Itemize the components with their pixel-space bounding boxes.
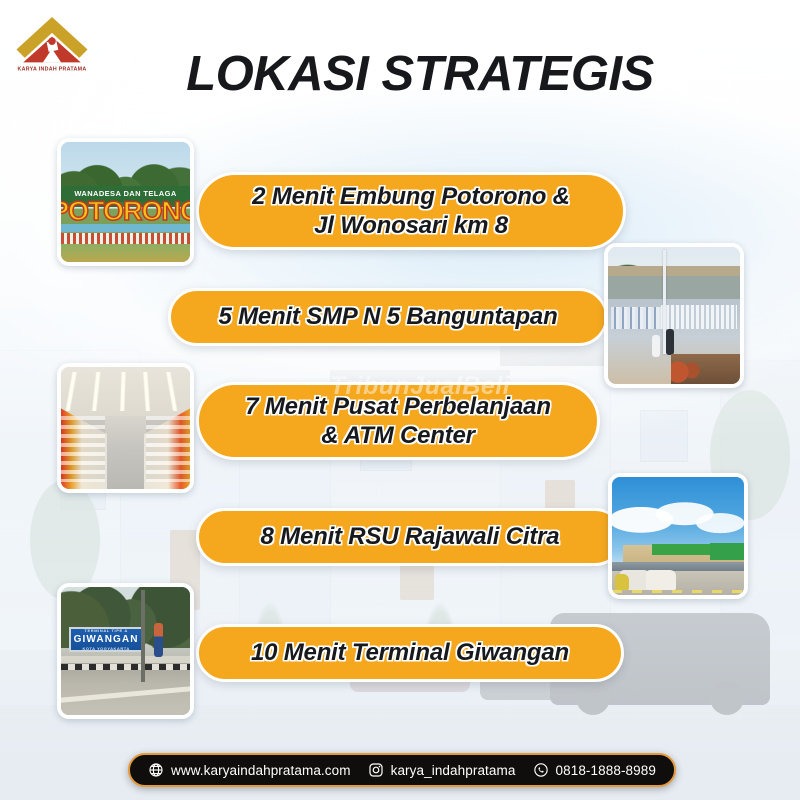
- photo-school-ceremony: [604, 243, 744, 388]
- instagram-icon: [368, 762, 384, 778]
- globe-icon: [148, 762, 164, 778]
- photo-potorono-landmark: WANADESA DAN TELAGA POTORONO: [57, 138, 194, 266]
- location-pill-embung-potorono[interactable]: 2 Menit Embung Potorono & Jl Wonosari km…: [196, 172, 626, 250]
- footer-whatsapp[interactable]: 0818-1888-8989: [533, 762, 657, 778]
- location-pill-smp-n-5-banguntapan[interactable]: 5 Menit SMP N 5 Banguntapan: [168, 288, 608, 346]
- photo-hospital-building: [608, 473, 748, 599]
- footer-website[interactable]: www.karyaindahpratama.com: [148, 762, 351, 778]
- poster-root: KARYA INDAH PRATAMA LOKASI STRATEGIS WAN…: [0, 0, 800, 800]
- location-label-terminal-giwangan: 10 Menit Terminal Giwangan: [235, 638, 585, 667]
- photo-terminal-giwangan: TERMINAL TIPE A GIWANGAN KOTA YOGYAKARTA: [57, 583, 194, 719]
- photo-supermarket-aisle: [57, 363, 194, 493]
- potorono-sign-word: POTORONO: [61, 198, 190, 224]
- giwangan-sign-line2: GIWANGAN: [74, 634, 139, 645]
- footer-instagram-text: karya_indahpratama: [391, 763, 516, 778]
- giwangan-sign: TERMINAL TIPE A GIWANGAN KOTA YOGYAKARTA: [69, 627, 144, 653]
- footer-instagram[interactable]: karya_indahpratama: [368, 762, 516, 778]
- location-pill-rsu-rajawali-citra[interactable]: 8 Menit RSU Rajawali Citra: [196, 508, 624, 566]
- whatsapp-icon: [533, 762, 549, 778]
- giwangan-sign-line3: KOTA YOGYAKARTA: [83, 646, 130, 651]
- location-pill-terminal-giwangan[interactable]: 10 Menit Terminal Giwangan: [196, 624, 624, 682]
- location-pill-pusat-perbelanjaan[interactable]: 7 Menit Pusat Perbelanjaan & ATM Center: [196, 382, 600, 460]
- location-label-pusat-perbelanjaan: 7 Menit Pusat Perbelanjaan & ATM Center: [229, 392, 567, 451]
- footer-whatsapp-text: 0818-1888-8989: [556, 763, 657, 778]
- location-label-rsu-rajawali-citra: 8 Menit RSU Rajawali Citra: [245, 522, 576, 551]
- footer-contact-bar: www.karyaindahpratama.com karya_indahpra…: [128, 753, 676, 787]
- location-label-embung-potorono: 2 Menit Embung Potorono & Jl Wonosari km…: [236, 182, 586, 241]
- location-label-smp-n-5-banguntapan: 5 Menit SMP N 5 Banguntapan: [202, 302, 573, 331]
- giwangan-sign-line1: TERMINAL TIPE A: [84, 628, 127, 633]
- footer-website-text: www.karyaindahpratama.com: [171, 763, 351, 778]
- page-title: LOKASI STRATEGIS: [0, 46, 800, 102]
